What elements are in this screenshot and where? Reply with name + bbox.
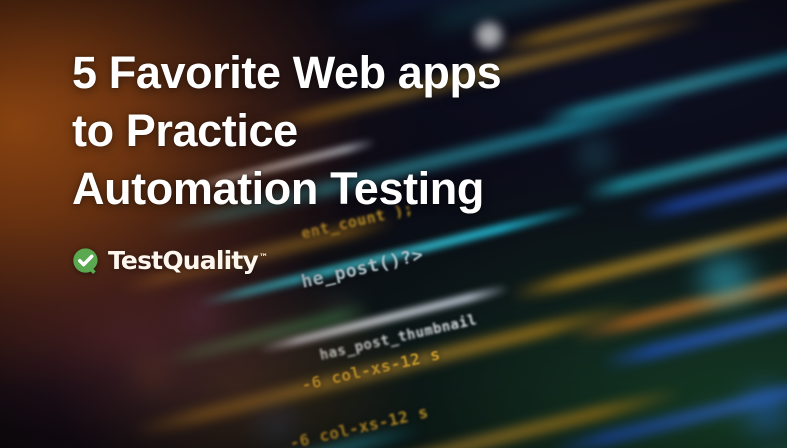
headline-line-1: 5 Favorite Web apps xyxy=(72,44,767,102)
headline-line-3: Automation Testing xyxy=(72,160,767,218)
logo-wordmark-text: TestQuality xyxy=(108,246,258,275)
headline-line-2: to Practice xyxy=(72,102,767,160)
testquality-logo[interactable]: TestQuality™ xyxy=(72,246,767,275)
trademark-symbol: ™ xyxy=(259,253,268,263)
code-snippet-4: -6 col-xs-12 s xyxy=(288,402,430,448)
code-snippet-3: -6 col-xs-12 s xyxy=(300,344,442,394)
code-snippet-2: has_post_thumbnail xyxy=(318,312,478,364)
banner-content: 5 Favorite Web apps to Practice Automati… xyxy=(72,44,767,275)
check-circle-icon xyxy=(72,247,99,274)
blog-hero-banner: ent_count ); he_post()?> has_post_thumbn… xyxy=(0,0,787,448)
logo-wordmark: TestQuality™ xyxy=(108,246,268,275)
page-title: 5 Favorite Web apps to Practice Automati… xyxy=(72,44,767,218)
